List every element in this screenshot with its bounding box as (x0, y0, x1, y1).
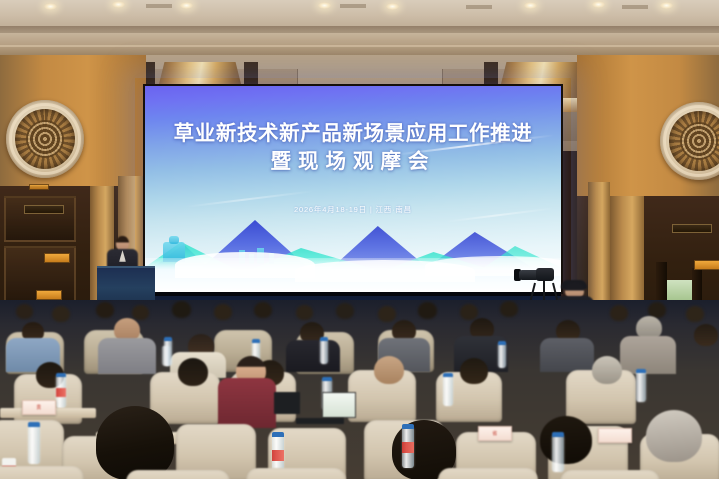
attendee-head (374, 356, 404, 384)
video-camera (536, 268, 554, 281)
bottle-cap (636, 369, 646, 373)
led-presentation-screen: 草业新技术新产品新场景应用工作推进 暨现场观摩会 2026年4月18-19日 |… (145, 86, 561, 292)
bottle-cap (402, 424, 414, 429)
attendee-torso (540, 338, 594, 372)
laptop-icon[interactable] (322, 392, 356, 418)
chair (0, 466, 84, 479)
medallion-ring (663, 105, 719, 177)
downlight-icon (386, 3, 399, 10)
medallion-ring (9, 103, 81, 175)
water-bottle-icon (552, 436, 564, 472)
attendee-head (500, 301, 518, 317)
wall-pillar (610, 196, 644, 316)
screen-wave (175, 252, 315, 278)
wall-sign-plate (24, 205, 64, 214)
table-name-card (598, 428, 632, 443)
bottle-cap (322, 377, 332, 381)
stage-front-edge (145, 292, 561, 296)
water-bottle-icon (636, 372, 646, 402)
screen-city-block (169, 236, 179, 244)
attendee-head (336, 303, 354, 319)
downlight-icon (180, 2, 193, 9)
wall-panel-frame (4, 196, 76, 242)
downlight-icon (44, 3, 57, 10)
audience-area: 贵 省 (0, 300, 719, 479)
laptop-base (296, 418, 344, 424)
attendee-head (96, 302, 114, 318)
attendee-head-grey (646, 410, 702, 462)
water-bottle-icon (162, 346, 170, 366)
attendee-head (172, 301, 191, 318)
vent-icon (146, 4, 172, 8)
attendee-head (460, 358, 488, 384)
wall-cornice (0, 33, 719, 57)
attendee-head (540, 416, 592, 464)
bottle-cap (56, 373, 66, 377)
downlight-icon (524, 2, 537, 9)
attendee-head (378, 306, 396, 322)
attendee-head (694, 324, 718, 346)
name-card-text: 省 (479, 427, 511, 441)
water-bottle-icon (443, 376, 453, 406)
bottle-cap (498, 341, 506, 345)
table-name-card: 贵 (22, 400, 56, 415)
attendee-head (296, 305, 313, 320)
wall-sign-amber (44, 253, 70, 263)
wall-sign-amber (29, 184, 49, 190)
name-card-text: 贵 (23, 401, 55, 415)
table-name-card: 省 (478, 426, 512, 441)
attendee-torso (286, 340, 340, 372)
chair (560, 470, 660, 479)
wall-sign-plate (672, 224, 712, 233)
conference-hall-photo: 草业新技术新产品新场景应用工作推进 暨现场观摩会 2026年4月18-19日 |… (0, 0, 719, 479)
attendee-head (686, 306, 704, 322)
attendee-head (460, 304, 478, 320)
water-bottle-icon (28, 426, 40, 464)
vent-icon (622, 5, 648, 9)
bottle-cap (272, 432, 284, 437)
attendee-head (418, 302, 437, 319)
screen-title-block: 草业新技术新产品新场景应用工作推进 暨现场观摩会 (145, 122, 561, 177)
bottle-label (402, 442, 414, 453)
bottle-label (272, 450, 284, 461)
bottle-cap (443, 373, 453, 377)
attendee-torso (98, 338, 156, 374)
screen-subtitle: 2026年4月18-19日 | 江西·南昌 (145, 204, 561, 215)
wall-pillar (588, 182, 610, 300)
attendee-head (178, 358, 208, 386)
wall-sign-amber (36, 290, 62, 300)
attendee-head (610, 305, 628, 321)
bottle-cap (320, 337, 328, 341)
screen-title-line-2: 暨现场观摩会 (145, 148, 561, 178)
bottle-cap (252, 339, 260, 343)
attendee-torso (620, 336, 676, 374)
downlight-icon (660, 2, 673, 9)
bottle-cap (164, 337, 172, 341)
attendee-torso-scarf (218, 378, 276, 428)
ornamental-medallion (6, 100, 84, 178)
attendee-head (16, 304, 33, 319)
water-bottle-icon (498, 344, 506, 368)
foreground-attendee-head (96, 406, 174, 479)
attendee-head (52, 306, 70, 322)
chair (246, 468, 346, 479)
laptop-icon[interactable] (274, 392, 300, 414)
chair (126, 470, 230, 479)
water-bottle-icon (320, 340, 328, 364)
downlight-icon (112, 1, 125, 8)
cornice-highlight (0, 45, 719, 47)
downlight-icon (592, 1, 605, 8)
wall-sign-amber (694, 260, 719, 270)
bottle-cap (552, 432, 564, 437)
attendee-head (254, 302, 272, 318)
attendee-head (214, 304, 232, 320)
attendee-head (132, 305, 149, 320)
downlight-icon (318, 2, 331, 9)
chair (438, 468, 538, 479)
attendee-head-grey (592, 356, 622, 384)
vent-icon (466, 5, 492, 9)
bottle-label (56, 388, 66, 397)
bottle-cap (28, 422, 40, 427)
screen-title-line-1: 草业新技术新产品新场景应用工作推进 (145, 122, 561, 148)
vent-icon (340, 4, 366, 8)
